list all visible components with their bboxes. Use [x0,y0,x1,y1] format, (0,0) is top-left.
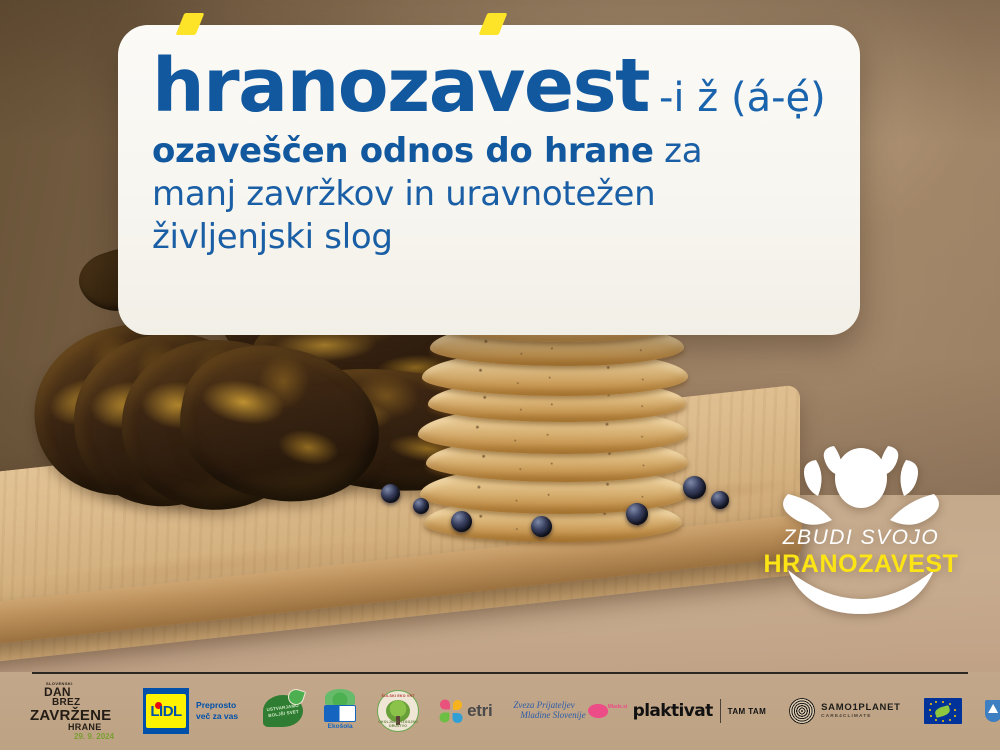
mlade-badge-text: Mlade.si [608,704,628,710]
headword-line: hranozavest -i ž (á-ẹ́) [152,51,826,122]
sdbzh-row-4: HRANE [68,723,102,732]
etri-flower-icon [440,700,462,722]
bubble-text: USTVARJAMO BOLJŠI SVET [266,703,300,719]
definition-line-2: manj zavržkov in uravnotežen [152,173,792,216]
blueberry [683,476,706,499]
lidl-slogan: Preprosto več za vas [196,700,238,723]
dictionary-entry-card: hranozavest -i ž (á-ẹ́) ozaveščen odnos … [118,25,860,335]
samo1planet-wordmark: SAMO1PLANET [821,703,900,714]
blueberry [711,491,729,509]
emblem-top-text: ŠOLSKI EKO VRT [378,694,418,698]
headword: hranozavest [152,51,649,122]
logo-slovenski-dan-brez-zavrzene-hrane[interactable]: SLOVENSKI DAN BREZ ZAVRŽENE HRANE 29. 9.… [30,682,114,741]
logo-lidl[interactable]: LIDL Preprosto več za vas [143,688,238,734]
logo-plaktivat[interactable]: plaktivat TAM TAM [633,699,767,723]
circular-tree-emblem-icon: ŠOLSKI EKO VRT OKOLJSKO VZGOJNO DRUŠTVO [377,690,419,732]
definition-rest: za [654,131,703,171]
lidl-slogan-line-2: več za vas [196,711,238,722]
emblem-bottom-text: OKOLJSKO VZGOJNO DRUŠTVO [378,720,418,728]
eko-book-icon [324,705,356,722]
brand-logo: ZBUDI SVOJO HRANOZAVEST [758,420,964,616]
eu-flag-icon [924,698,962,724]
definition-line-3: življenjski slog [152,216,792,259]
blueberry [626,503,648,525]
samo1planet-mark-icon [789,698,815,724]
logo-eu[interactable] [924,698,962,724]
definition-line-1: ozaveščen odnos do hrane za [152,130,792,173]
blueberry [413,498,429,514]
footer-divider [32,672,968,674]
logo-samo1planet[interactable]: SAMO1PLANET CARE4CLIMATE [789,698,900,724]
sponsor-logo-row: SLOVENSKI DAN BREZ ZAVRŽENE HRANE 29. 9.… [30,680,980,742]
grammar-note: -i ž (á-ẹ́) [659,75,826,121]
brand-line-1: ZBUDI SVOJO [782,526,940,549]
plaktivat-wordmark: plaktivat [633,701,713,721]
logo-ustvarjamo-boljsi-svet[interactable]: USTVARJAMO BOLJŠI SVET [263,695,303,727]
sdbzh-date: 29. 9. 2024 [74,733,114,741]
tamtam-wordmark: TAM TAM [728,707,767,716]
ekosola-wordmark: Ekošola [328,723,353,730]
mlade-badge-icon: Mlade.si [588,704,608,718]
poster-canvas: hranozavest -i ž (á-ẹ́) ozaveščen odnos … [0,0,1000,750]
brand-line-2: HRANOZAVEST [763,550,958,578]
logo-zveza-prijateljev-mladine[interactable]: Zveza Prijateljev Mladine Slovenije Mlad… [513,701,607,721]
slovenia-coat-of-arms-icon [985,700,1000,722]
sdbzh-row-3: ZAVRŽENE [30,708,111,723]
logo-ministrstvo-za-okolje[interactable]: REPUBLIKA SLOVENIJA MINISTRSTVO ZA OKOLJ… [985,700,1000,723]
zpms-line-2: Mladine Slovenije [520,711,585,721]
eko-tree-icon [325,689,355,705]
speech-bubble-icon: USTVARJAMO BOLJŠI SVET [263,695,303,727]
etri-wordmark: etri [467,701,492,721]
logo-solski-eko-vrt[interactable]: ŠOLSKI EKO VRT OKOLJSKO VZGOJNO DRUŠTVO [377,690,419,732]
blueberry [531,516,552,537]
lidl-slogan-line-1: Preprosto [196,700,238,711]
tree-icon [386,700,410,722]
samo1planet-text: SAMO1PLANET CARE4CLIMATE [821,703,900,719]
lidl-wordmark: LIDL [150,703,181,720]
definition-bold: ozaveščen odnos do hrane [152,131,654,171]
sdbzh-row-1: DAN [44,686,71,698]
lidl-mark-icon: LIDL [143,688,189,734]
sunburst-icon [783,446,939,525]
zpms-text: Zveza Prijateljev Mladine Slovenije [513,701,585,721]
care4climate-sub: CARE4CLIMATE [821,714,900,720]
logo-ekosola[interactable]: Ekošola [320,689,360,733]
blueberry [381,484,400,503]
sdbzh-row-2: BREZ [52,698,80,708]
sponsor-footer: SLOVENSKI DAN BREZ ZAVRŽENE HRANE 29. 9.… [0,672,1000,750]
logo-etri[interactable]: etri [440,700,492,722]
logo-divider [720,699,721,723]
blueberry [451,511,472,532]
lidl-inner: LIDL [146,694,186,728]
definition: ozaveščen odnos do hrane za manj zavržko… [152,130,792,258]
